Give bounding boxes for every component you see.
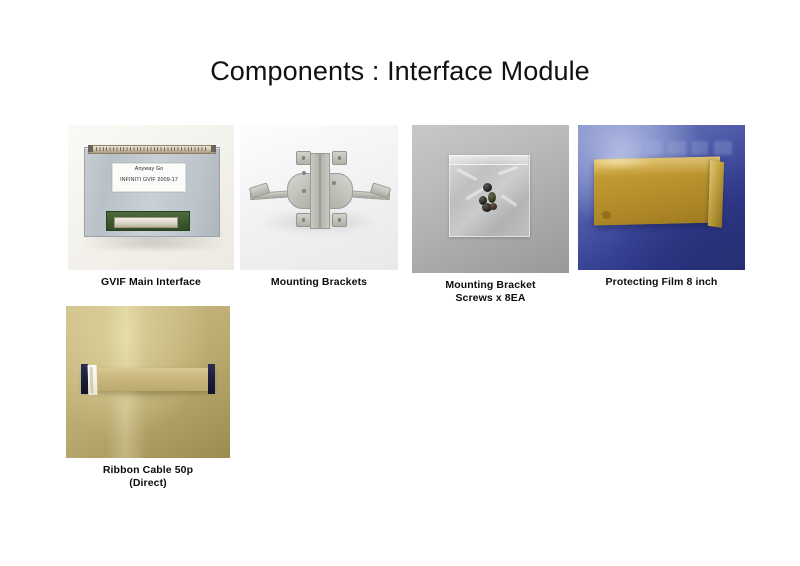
- photo-ribbon-cable: [66, 306, 230, 458]
- caption-line-1: Protecting Film 8 inch: [606, 276, 718, 288]
- ribbon-connector-right: [208, 364, 215, 394]
- protecting-film-curled-edge: [708, 160, 724, 228]
- bracket-spine-right: [320, 153, 330, 229]
- caption-mounting-brackets: Mounting Brackets: [240, 276, 398, 289]
- drop-shadow: [88, 390, 210, 400]
- pcb-connector: [114, 217, 178, 228]
- bracket-hole: [302, 189, 306, 193]
- film-mark: [602, 211, 611, 219]
- ziplock-seal: [449, 155, 528, 165]
- bracket-spine-left: [310, 153, 320, 229]
- screw: [483, 183, 492, 192]
- product-label-line-1: Anyway Go: [113, 164, 185, 175]
- photo-gvif-main-interface: Anyway Go INFINITI GVIF 2009-17: [68, 125, 234, 270]
- component-card-gvif-main-interface: Anyway Go INFINITI GVIF 2009-17 GVIF Mai…: [68, 125, 234, 289]
- caption-line-1: GVIF Main Interface: [101, 276, 201, 288]
- bracket-hole: [332, 181, 336, 185]
- photo-mounting-brackets: [240, 125, 398, 270]
- component-card-mounting-brackets: Mounting Brackets: [240, 125, 398, 289]
- component-card-mounting-bracket-screws: Mounting Bracket Screws x 8EA: [412, 125, 569, 304]
- specular-highlight: [596, 155, 654, 169]
- component-card-ribbon-cable: Ribbon Cable 50p (Direct): [66, 306, 230, 489]
- caption-line-2: (Direct): [66, 477, 230, 490]
- photo-protecting-film: [578, 125, 745, 270]
- bracket-tab-top-right: [332, 151, 347, 165]
- connector-pins: [96, 147, 206, 151]
- caption-ribbon-cable: Ribbon Cable 50p (Direct): [66, 464, 230, 489]
- bracket-tab-top-left: [296, 151, 311, 165]
- photo-mounting-bracket-screws: [412, 125, 569, 273]
- screws-cluster: [474, 183, 502, 213]
- caption-line-1: Ribbon Cable 50p: [103, 464, 193, 476]
- ribbon-cable-body: [82, 368, 215, 391]
- caption-mounting-bracket-screws: Mounting Bracket Screws x 8EA: [412, 279, 569, 304]
- caption-line-1: Mounting Brackets: [271, 276, 367, 288]
- caption-line-1: Mounting Bracket: [445, 279, 535, 291]
- caption-gvif-main-interface: GVIF Main Interface: [68, 276, 234, 289]
- bracket-tab-bottom-left: [296, 213, 311, 227]
- ribbon-reinforcement-tab: [87, 365, 97, 395]
- screw: [490, 203, 497, 210]
- product-label: Anyway Go INFINITI GVIF 2009-17: [112, 163, 186, 192]
- caption-line-2: Screws x 8EA: [412, 292, 569, 305]
- page-title: Components : Interface Module: [0, 56, 800, 87]
- bracket-hole: [302, 171, 306, 175]
- screw: [488, 192, 496, 203]
- background-text-blur: [628, 141, 732, 155]
- component-card-protecting-film: Protecting Film 8 inch: [578, 125, 745, 289]
- caption-protecting-film: Protecting Film 8 inch: [578, 276, 745, 289]
- product-label-line-2: INFINITI GVIF 2009-17: [113, 175, 185, 186]
- bracket-tab-bottom-right: [332, 213, 347, 227]
